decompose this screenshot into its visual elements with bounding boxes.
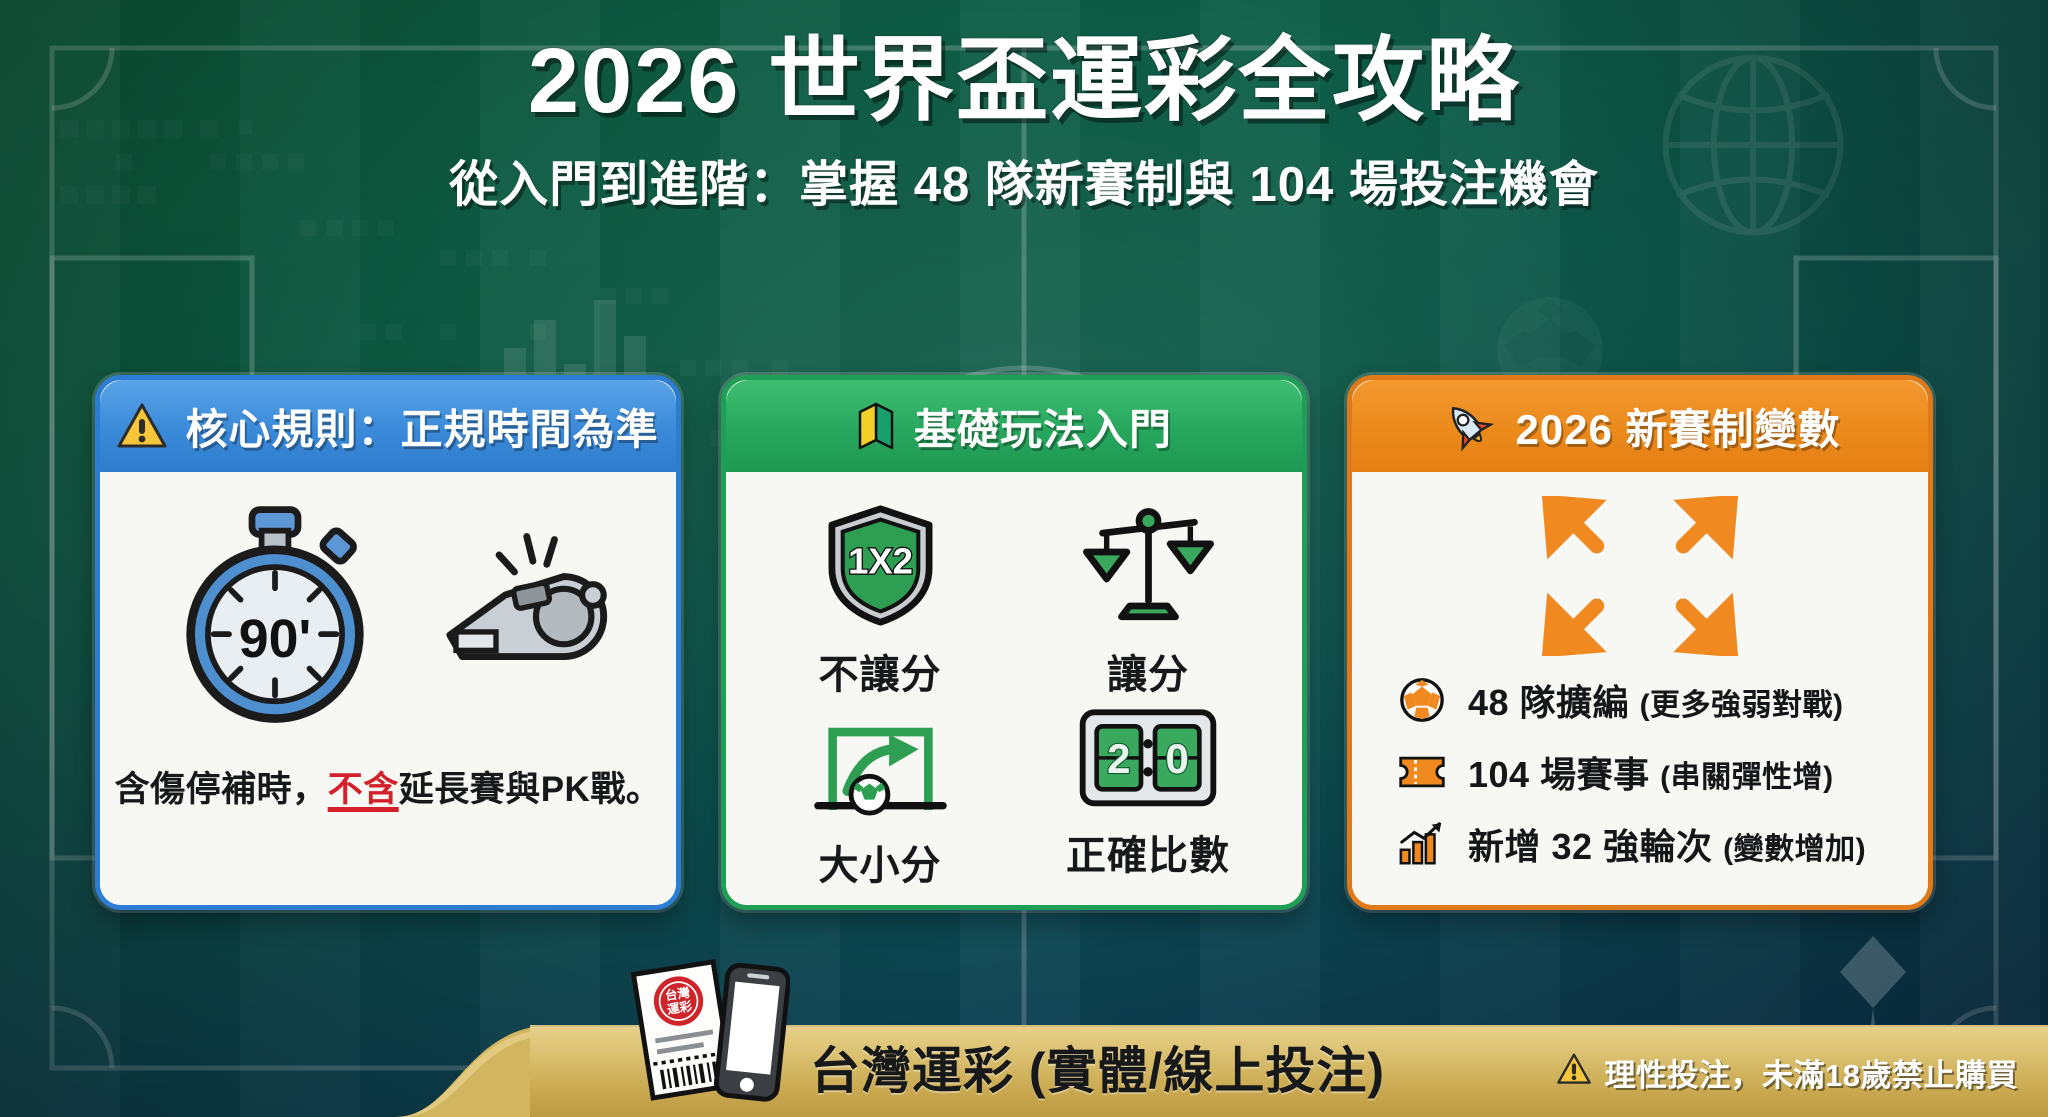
- bet-type-label: 不讓分: [819, 642, 942, 700]
- list-item-sub: (變數增加): [1723, 833, 1866, 866]
- ticket-icon: [1396, 751, 1448, 793]
- whistle-icon: [416, 515, 616, 720]
- responsible-gaming-warning: 理性投注，未滿18歲禁止購買: [1557, 1050, 2018, 1095]
- list-item-main: 48 隊擴編: [1468, 682, 1629, 723]
- infographic-canvas: 2026 世界盃運彩全攻略 從入門到進階：掌握 48 隊新賽制與 104 場投注…: [0, 0, 2048, 1117]
- expand-arrows-icon: [1352, 472, 1928, 656]
- core-rules-note: 含傷停補時，不含延長賽與PK戰。: [100, 761, 676, 812]
- list-item-text: 104 場賽事 (串關彈性增): [1468, 746, 1834, 798]
- footer-bar: 台灣 運彩: [0, 1002, 2048, 1117]
- warning-triangle-icon: [117, 403, 167, 449]
- bet-type-label: 正確比數: [1066, 823, 1230, 881]
- growth-chart-icon: [1396, 820, 1448, 868]
- ticket-phone-icon: 台灣 運彩: [620, 956, 790, 1111]
- list-item[interactable]: 104 場賽事 (串關彈性增): [1396, 746, 1928, 798]
- list-item-main: 新增 32 強輪次: [1468, 826, 1713, 867]
- list-item-sub: (更多強弱對戰): [1640, 689, 1844, 722]
- beginner-badge-icon: [856, 400, 896, 452]
- card-basic-playstyles-title: 基礎玩法入門: [914, 396, 1172, 457]
- goal-ball-icon: [813, 704, 948, 829]
- page-subtitle: 從入門到進階：掌握 48 隊新賽制與 104 場投注機會: [0, 145, 2048, 216]
- stopwatch-label: 90': [239, 609, 311, 669]
- bet-type-label: 讓分: [1107, 642, 1189, 700]
- list-item-text: 48 隊擴編 (更多強弱對戰): [1468, 674, 1844, 726]
- card-new-format-title: 2026 新賽制變數: [1515, 396, 1840, 457]
- list-item-text: 新增 32 強輪次 (變數增加): [1468, 818, 1866, 870]
- card-new-format-body: 48 隊擴編 (更多強弱對戰) 104 場賽事: [1352, 472, 1928, 905]
- note-prefix: 含傷停補時，: [115, 770, 328, 809]
- note-negative: 不含: [328, 770, 399, 809]
- bet-type-item[interactable]: 1X2 不讓分: [746, 498, 1014, 700]
- bet-type-item[interactable]: 讓分: [1014, 498, 1282, 700]
- card-core-rules[interactable]: 核心規則：正規時間為準: [95, 375, 681, 910]
- bet-type-grid: 1X2 不讓分: [726, 472, 1302, 905]
- list-item[interactable]: 新增 32 強輪次 (變數增加): [1396, 818, 1928, 870]
- shield-badge-text: 1X2: [848, 541, 913, 582]
- svg-text:2: 2: [1107, 735, 1130, 782]
- card-core-rules-title: 核心規則：正規時間為準: [185, 396, 658, 457]
- bet-type-label: 大小分: [819, 833, 942, 891]
- svg-text:0: 0: [1165, 735, 1188, 782]
- page-title: 2026 世界盃運彩全攻略: [0, 32, 2048, 131]
- card-basic-playstyles-body: 1X2 不讓分: [726, 472, 1302, 905]
- balance-scale-icon: [1081, 498, 1216, 638]
- soccer-ball-icon: [1396, 676, 1448, 724]
- rocket-icon: [1439, 399, 1497, 453]
- note-suffix: 延長賽與PK戰。: [399, 770, 662, 809]
- shield-1x2-icon: 1X2: [813, 498, 948, 638]
- list-item-sub: (串關彈性增): [1660, 761, 1833, 794]
- warning-text: 理性投注，未滿18歲禁止購買: [1605, 1050, 2018, 1095]
- card-basic-playstyles[interactable]: 基礎玩法入門 1X2 不讓分: [721, 375, 1307, 910]
- page-header: 2026 世界盃運彩全攻略 從入門到進階：掌握 48 隊新賽制與 104 場投注…: [0, 32, 2048, 216]
- footer-brand: 台灣運彩 (實體/線上投注): [810, 1031, 1385, 1103]
- list-item[interactable]: 48 隊擴編 (更多強弱對戰): [1396, 674, 1928, 726]
- bet-type-item[interactable]: 2 0 正確比數: [1014, 704, 1282, 891]
- core-rules-icon-group: 90': [100, 472, 676, 735]
- bet-type-item[interactable]: 大小分: [746, 704, 1014, 891]
- card-row: 核心規則：正規時間為準: [95, 375, 1953, 910]
- card-new-format[interactable]: 2026 新賽制變數: [1347, 375, 1933, 910]
- card-basic-playstyles-header: 基礎玩法入門: [726, 380, 1302, 472]
- list-item-main: 104 場賽事: [1468, 754, 1650, 795]
- card-core-rules-body: 90': [100, 472, 676, 905]
- scoreboard-icon: 2 0: [1078, 704, 1218, 819]
- stopwatch-icon: 90': [160, 500, 390, 735]
- card-core-rules-header: 核心規則：正規時間為準: [100, 380, 676, 472]
- card-new-format-header: 2026 新賽制變數: [1352, 380, 1928, 472]
- warning-triangle-icon: [1557, 1053, 1591, 1093]
- new-format-list: 48 隊擴編 (更多強弱對戰) 104 場賽事: [1352, 656, 1928, 870]
